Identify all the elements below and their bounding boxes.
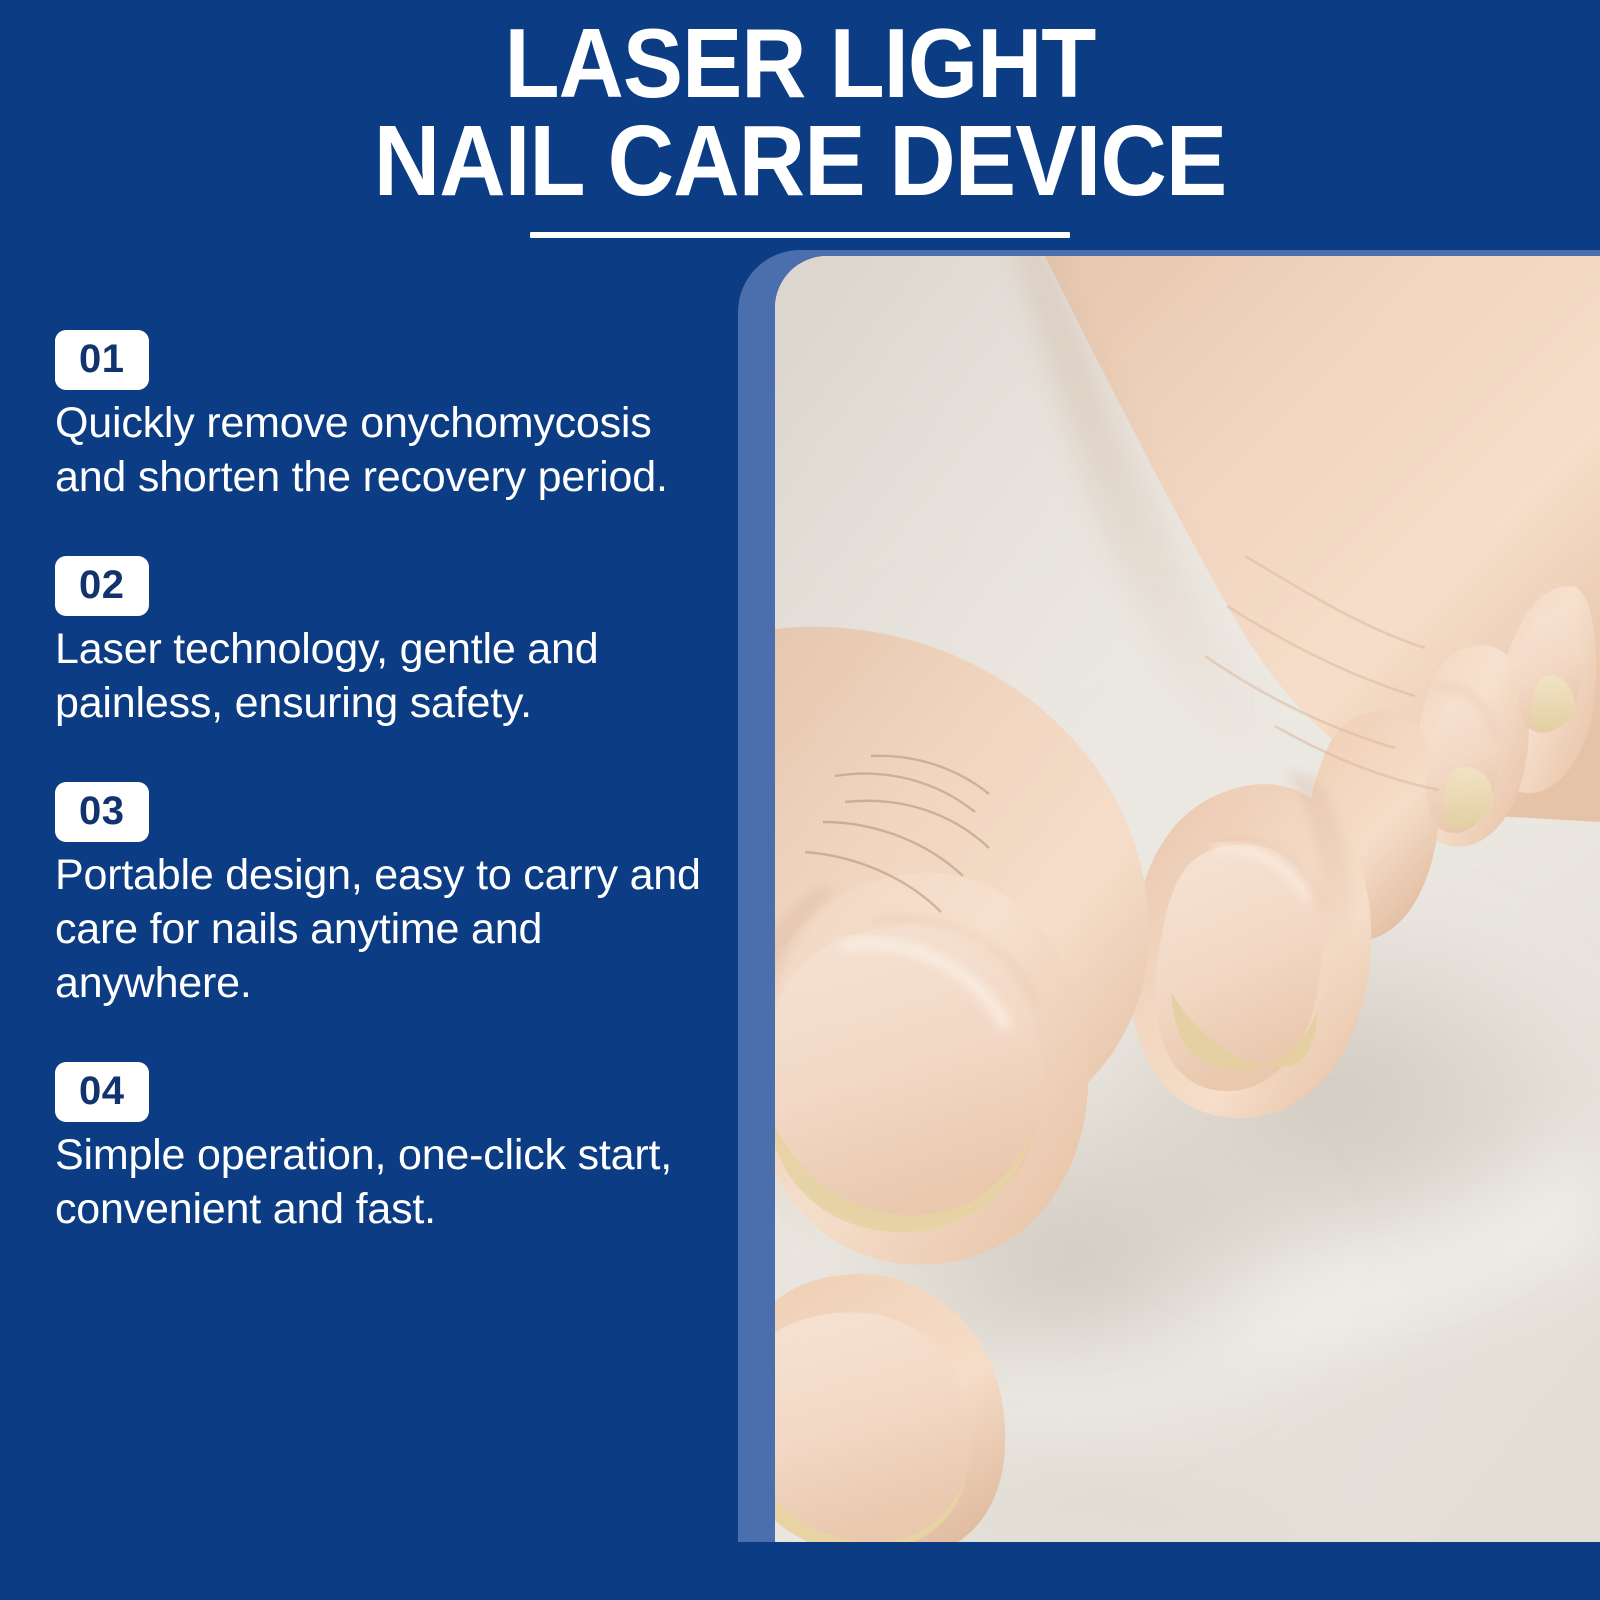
title-underline	[530, 232, 1070, 238]
feature-list: 01 Quickly remove onychomycosis and shor…	[55, 330, 715, 1236]
feature-item-04: 04 Simple operation, one-click start, co…	[55, 1062, 715, 1236]
feature-number-badge-02: 02	[55, 556, 149, 616]
title-line-1: LASER LIGHT	[64, 14, 1536, 112]
feature-item-01: 01 Quickly remove onychomycosis and shor…	[55, 330, 715, 504]
feature-number-badge-03: 03	[55, 782, 149, 842]
feet-toenails-photo	[775, 256, 1600, 1542]
product-photo-panel	[738, 250, 1600, 1542]
feature-text-02: Laser technology, gentle and painless, e…	[55, 622, 705, 730]
feature-number-badge-01: 01	[55, 330, 149, 390]
feature-item-02: 02 Laser technology, gentle and painless…	[55, 556, 715, 730]
photo-frame	[775, 256, 1600, 1542]
page-title: LASER LIGHT NAIL CARE DEVICE	[0, 14, 1600, 238]
feature-text-03: Portable design, easy to carry and care …	[55, 848, 705, 1010]
title-line-2: NAIL CARE DEVICE	[64, 112, 1536, 210]
feature-item-03: 03 Portable design, easy to carry and ca…	[55, 782, 715, 1010]
feature-number-badge-04: 04	[55, 1062, 149, 1122]
feature-text-01: Quickly remove onychomycosis and shorten…	[55, 396, 705, 504]
feature-text-04: Simple operation, one-click start, conve…	[55, 1128, 705, 1236]
